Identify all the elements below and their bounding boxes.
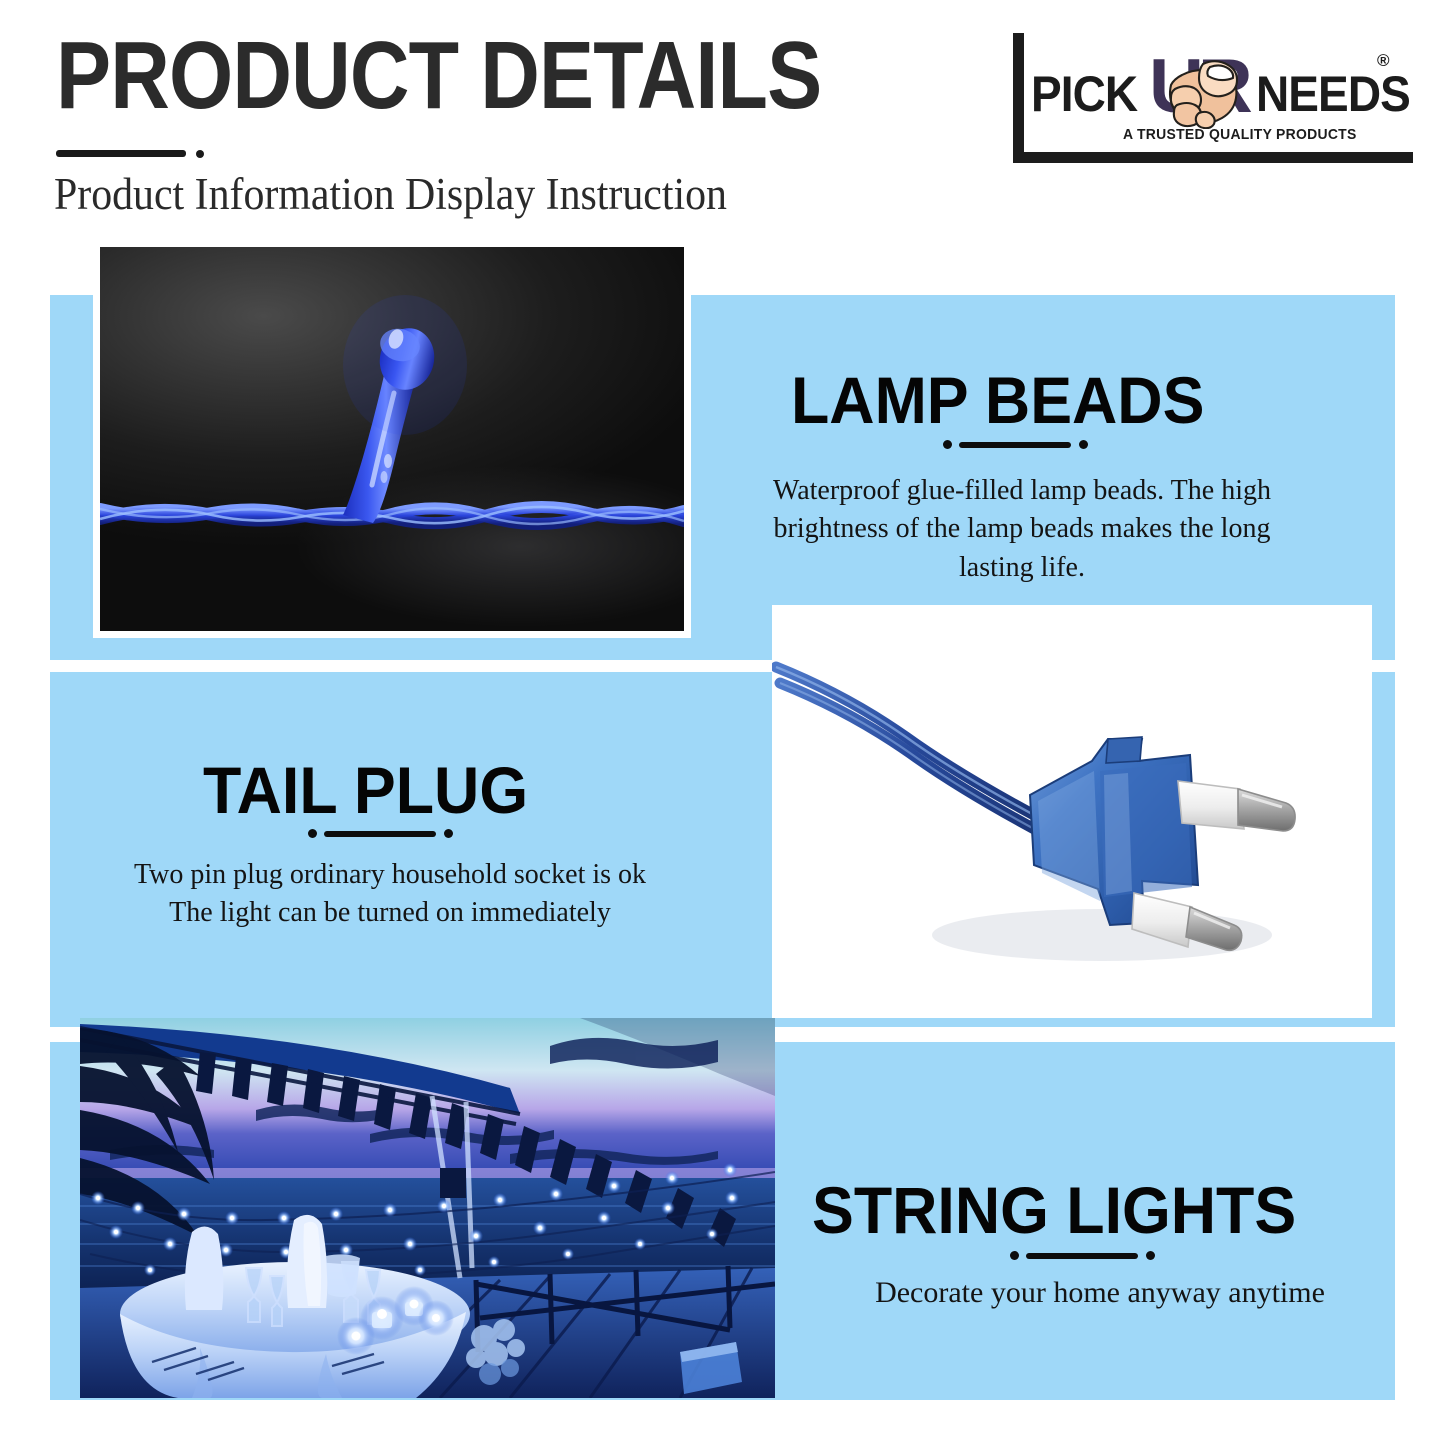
product-details-infographic: PRODUCT DETAILS Product Information Disp… <box>0 0 1445 1445</box>
ornament-bar <box>324 831 436 837</box>
string-lights-ambience-photo <box>80 1018 775 1398</box>
section-title-lamp-beads: LAMP BEADS <box>791 362 1204 438</box>
section-ornament-lamp-beads <box>943 437 1093 451</box>
two-pin-plug-photo <box>772 605 1372 1018</box>
section-ornament-tail-plug <box>308 826 458 840</box>
section-title-string-lights: STRING LIGHTS <box>812 1172 1296 1248</box>
ornament-bar <box>959 442 1071 448</box>
logo-wordmark-left: PICK <box>1031 65 1137 123</box>
ornament-bar <box>1026 1253 1138 1259</box>
section-body-lamp-beads: Waterproof glue-filled lamp beads. The h… <box>762 472 1282 587</box>
section-body-tail-plug: Two pin plug ordinary household socket i… <box>110 856 670 933</box>
lamp-bead-macro-photo <box>93 240 691 638</box>
section-body-tail-plug-line-1: Two pin plug ordinary household socket i… <box>110 856 670 894</box>
section-body-string-lights: Decorate your home anyway anytime <box>835 1272 1365 1313</box>
section-body-tail-plug-line-2: The light can be turned on immediately <box>110 894 670 932</box>
ornament-dot-right <box>1146 1251 1155 1260</box>
pointing-hand-icon <box>1163 55 1255 129</box>
section-ornament-string-lights <box>1010 1248 1160 1262</box>
page-title: PRODUCT DETAILS <box>56 28 821 124</box>
brand-logo: UR PICK NEEDS ® <box>1013 33 1413 163</box>
ornament-dot-left <box>308 829 317 838</box>
logo-tagline: A TRUSTED QUALITY PRODUCTS <box>1123 126 1357 143</box>
ornament-dot-left <box>1010 1251 1019 1260</box>
section-title-tail-plug: TAIL PLUG <box>203 752 528 828</box>
header-divider-dot <box>196 150 204 158</box>
registered-trademark-icon: ® <box>1377 51 1390 71</box>
header-divider-bar <box>56 150 186 157</box>
logo-wordmark-right: NEEDS <box>1256 65 1410 123</box>
logo-frame-left-edge <box>1013 33 1024 163</box>
ornament-dot-right <box>444 829 453 838</box>
ornament-dot-right <box>1079 440 1088 449</box>
ornament-dot-left <box>943 440 952 449</box>
page-subtitle: Product Information Display Instruction <box>54 168 727 220</box>
logo-frame-bottom-edge <box>1013 152 1413 163</box>
